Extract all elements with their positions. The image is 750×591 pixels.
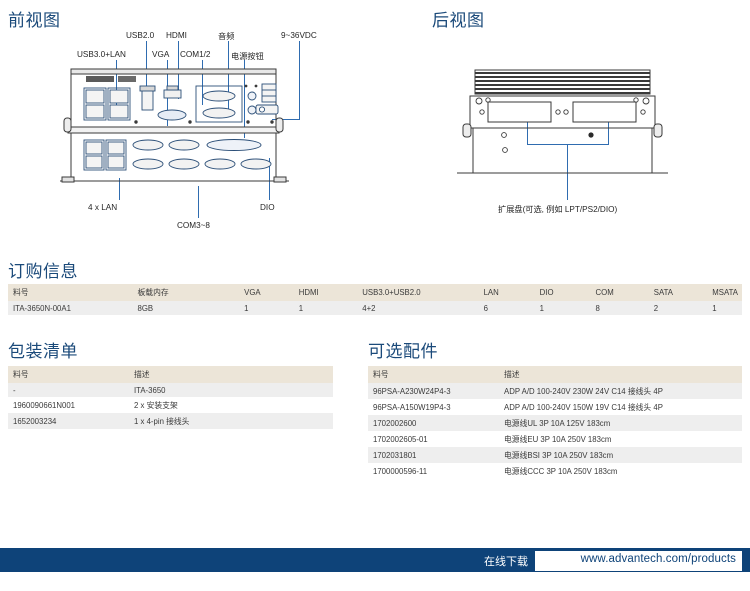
cell-part-no: ITA-3650N-00A1 (8, 301, 133, 315)
callout-9-36vdc: 9~36VDC (281, 31, 317, 40)
cell-description: ADP A/D 100-240V 150W 19V C14 接线头 4P (499, 399, 742, 415)
cell-com: 8 (591, 301, 649, 315)
col-header-com: COM (591, 284, 649, 301)
cell-description: ADP A/D 100-240V 230W 24V C14 接线头 4P (499, 383, 742, 399)
rear-view-title: 后视图 (432, 6, 485, 31)
footer-url-link[interactable]: www.advantech.com/products (581, 553, 736, 565)
table-row: ITA-3650N-00A1 8GB 1 1 4+2 6 1 8 2 1 (8, 301, 742, 315)
cell-part-no: 1702002605-01 (368, 431, 499, 447)
col-header-dio: DIO (535, 284, 591, 301)
cell-part-no: 1702031801 (368, 447, 499, 463)
callout-4x-lan: 4 x LAN (88, 203, 117, 212)
cell-description: 电源线UL 3P 10A 125V 183cm (499, 415, 742, 431)
cell-description: 电源线CCC 3P 10A 250V 183cm (499, 463, 742, 479)
callout-usb30-lan: USB3.0+LAN (77, 50, 126, 59)
callout-expansion-tray: 扩展盘(可选, 例如 LPT/PS2/DIO) (498, 203, 617, 215)
table-row: 1702031801 电源线BSI 3P 10A 250V 183cm (368, 447, 742, 463)
cell-sata: 2 (649, 301, 708, 315)
cell-description: ITA-3650 (129, 383, 333, 397)
cell-description: 电源线BSI 3P 10A 250V 183cm (499, 447, 742, 463)
table-row: 1960090661N001 2 x 安装支架 (8, 397, 333, 413)
packing-list-table: 料号 描述 - ITA-3650 1960090661N001 2 x 安装支架… (8, 366, 333, 429)
cell-hdmi: 1 (294, 301, 358, 315)
col-header-part-no: 料号 (8, 284, 133, 301)
cell-part-no: - (8, 383, 129, 397)
cell-part-no: 1652003234 (8, 413, 129, 429)
cell-description: 电源线EU 3P 10A 250V 183cm (499, 431, 742, 447)
table-header-row: 料号 描述 (8, 366, 333, 383)
col-header-msata: MSATA (707, 284, 742, 301)
callout-audio: 音频 (218, 30, 234, 42)
cell-msata: 1 (707, 301, 742, 315)
col-header-part-no: 料号 (8, 366, 129, 383)
cell-part-no: 1702002600 (368, 415, 499, 431)
table-row: 96PSA-A230W24P4-3 ADP A/D 100-240V 230W … (368, 383, 742, 399)
cell-part-no: 96PSA-A150W19P4-3 (368, 399, 499, 415)
cell-description: 2 x 安装支架 (129, 397, 333, 413)
front-panel-illustration (60, 60, 290, 200)
callout-hdmi: HDMI (166, 31, 187, 40)
packing-section-title: 包装清单 (8, 337, 78, 362)
cell-vga: 1 (239, 301, 294, 315)
callout-com3-8: COM3~8 (177, 221, 210, 230)
cell-dio: 1 (535, 301, 591, 315)
col-header-description: 描述 (129, 366, 333, 383)
rear-panel-illustration (455, 60, 670, 200)
col-header-hdmi: HDMI (294, 284, 358, 301)
ordering-section-title: 订购信息 (8, 257, 78, 282)
col-header-vga: VGA (239, 284, 294, 301)
cell-memory: 8GB (133, 301, 240, 315)
cell-description: 1 x 4-pin 接线头 (129, 413, 333, 429)
cell-usb: 4+2 (357, 301, 478, 315)
table-row: 1702002605-01 电源线EU 3P 10A 250V 183cm (368, 431, 742, 447)
callout-vga: VGA (152, 50, 169, 59)
table-row: 1700000596-11 电源线CCC 3P 10A 250V 183cm (368, 463, 742, 479)
callout-dio: DIO (260, 203, 275, 212)
table-row: - ITA-3650 (8, 383, 333, 397)
front-view-title: 前视图 (8, 6, 61, 31)
ordering-table: 料号 板载内存 VGA HDMI USB3.0+USB2.0 LAN DIO C… (8, 284, 742, 315)
table-row: 1652003234 1 x 4-pin 接线头 (8, 413, 333, 429)
cell-part-no: 96PSA-A230W24P4-3 (368, 383, 499, 399)
callout-usb20: USB2.0 (126, 31, 154, 40)
cell-lan: 6 (479, 301, 535, 315)
table-header-row: 料号 板载内存 VGA HDMI USB3.0+USB2.0 LAN DIO C… (8, 284, 742, 301)
optional-accessories-table: 料号 描述 96PSA-A230W24P4-3 ADP A/D 100-240V… (368, 366, 742, 479)
cell-part-no: 1960090661N001 (8, 397, 129, 413)
optional-section-title: 可选配件 (368, 337, 438, 362)
col-header-sata: SATA (649, 284, 708, 301)
footer-download-label: 在线下载 (484, 553, 528, 569)
col-header-lan: LAN (479, 284, 535, 301)
cell-part-no: 1700000596-11 (368, 463, 499, 479)
table-header-row: 料号 描述 (368, 366, 742, 383)
col-header-memory: 板载内存 (133, 284, 240, 301)
col-header-usb: USB3.0+USB2.0 (357, 284, 478, 301)
callout-com12: COM1/2 (180, 50, 210, 59)
table-row: 96PSA-A150W19P4-3 ADP A/D 100-240V 150W … (368, 399, 742, 415)
col-header-part-no: 料号 (368, 366, 499, 383)
leader-9-36vdc-a (299, 41, 300, 119)
table-row: 1702002600 电源线UL 3P 10A 125V 183cm (368, 415, 742, 431)
col-header-description: 描述 (499, 366, 742, 383)
